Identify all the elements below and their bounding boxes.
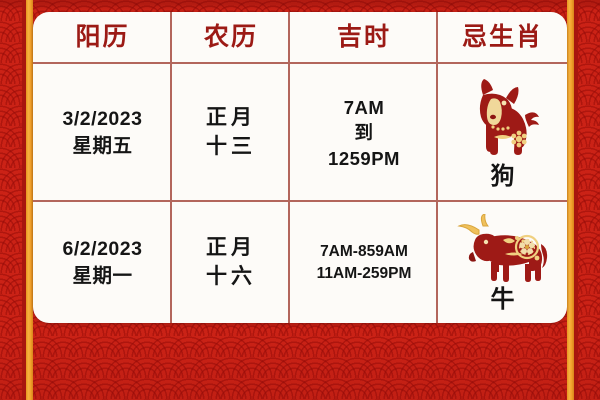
zodiac-cell-row2: 牛	[438, 202, 567, 323]
header-cell-solar: 阳历	[33, 12, 172, 64]
almanac-card: 阳历 农历 吉时 忌生肖 3/2/2023 星期五 正月 十三 7AM	[33, 12, 567, 323]
header-label-hours: 吉时	[337, 24, 391, 52]
dog-zodiac-icon	[459, 77, 547, 163]
header-cell-lunar: 农历	[172, 12, 290, 64]
almanac-table: 阳历 农历 吉时 忌生肖 3/2/2023 星期五 正月 十三 7AM	[33, 12, 567, 323]
solar-date-row2: 6/2/2023	[63, 236, 143, 263]
header-cell-hours: 吉时	[290, 12, 438, 64]
ox-zodiac-icon	[453, 214, 553, 286]
hours-cell-row1: 7AM 到 1259PM	[290, 64, 438, 202]
right-outer-red-edge	[574, 0, 578, 400]
hour-line-2-row2: 11AM-259PM	[317, 263, 412, 284]
lunar-day-row2: 十六	[206, 263, 256, 292]
hour-line-1-row1: 7AM	[344, 95, 385, 121]
lunar-cell-row1: 正月 十三	[172, 64, 290, 202]
solar-weekday-row1: 星期五	[72, 133, 132, 160]
solar-date-row1: 3/2/2023	[63, 106, 143, 133]
table-row: 6/2/2023 星期一	[33, 202, 172, 323]
zodiac-label-row1: 狗	[491, 165, 515, 189]
table-row: 3/2/2023 星期五	[33, 64, 172, 202]
zodiac-label-row2: 牛	[491, 288, 515, 312]
header-label-solar: 阳历	[75, 24, 129, 52]
lunar-cell-row2: 正月 十六	[172, 202, 290, 323]
lunar-month-row1: 正月	[206, 104, 256, 133]
hours-cell-row2: 7AM-859AM 11AM-259PM	[290, 202, 438, 323]
header-label-zodiac: 忌生肖	[462, 24, 543, 52]
header-label-lunar: 农历	[204, 24, 258, 52]
lunar-day-row1: 十三	[206, 133, 256, 162]
hour-line-2-row1: 到	[354, 120, 373, 146]
solar-weekday-row2: 星期一	[72, 263, 132, 290]
hour-line-3-row1: 1259PM	[328, 146, 400, 172]
header-cell-zodiac: 忌生肖	[438, 12, 567, 64]
almanac-poster: 阳历 农历 吉时 忌生肖 3/2/2023 星期五 正月 十三 7AM	[0, 0, 600, 400]
zodiac-cell-row1: 狗	[438, 64, 567, 202]
left-gold-rail	[26, 0, 33, 400]
hour-line-1-row2: 7AM-859AM	[320, 241, 408, 262]
lunar-month-row2: 正月	[206, 234, 256, 263]
right-gold-rail	[567, 0, 574, 400]
